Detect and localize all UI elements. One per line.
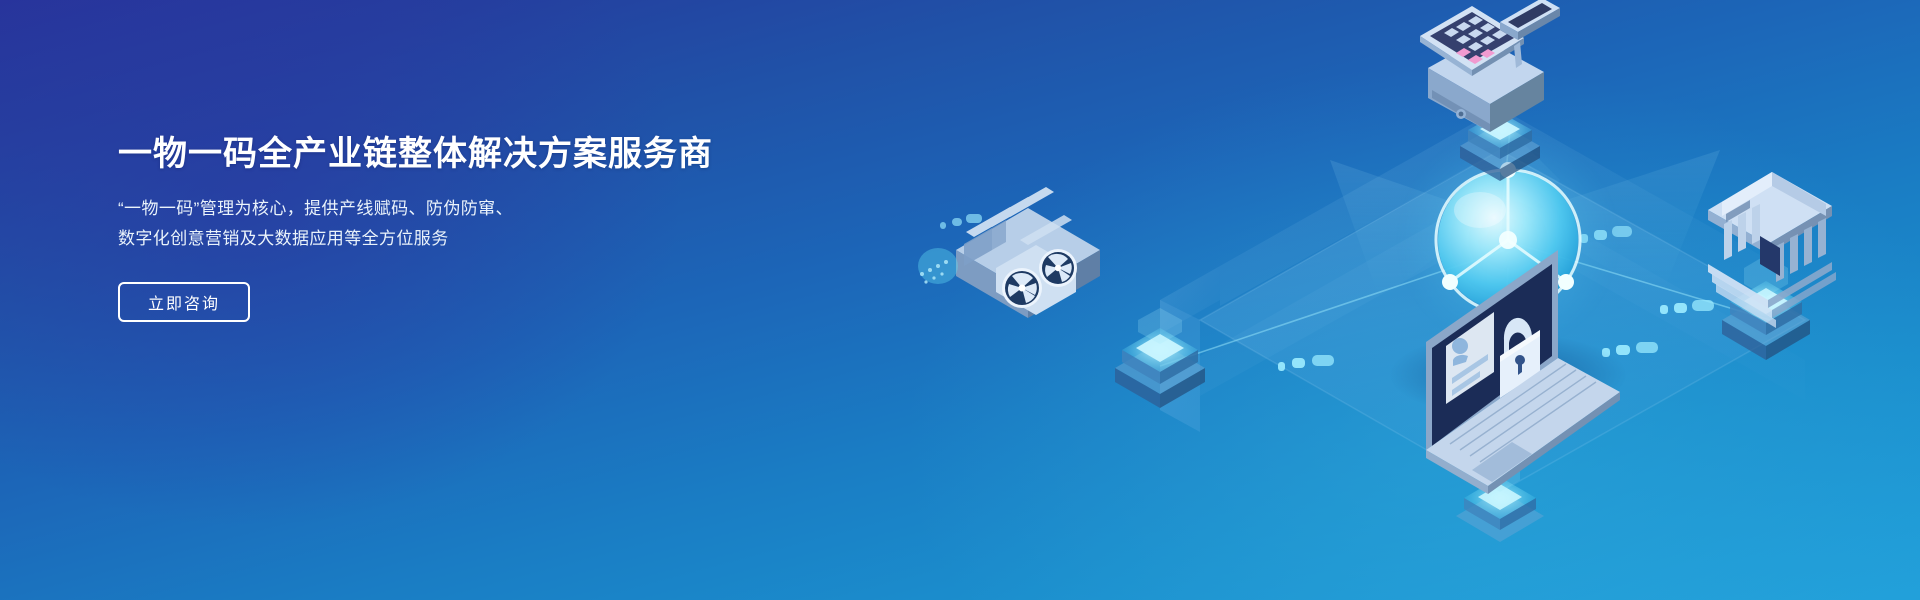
server-rack-icon bbox=[918, 187, 1100, 318]
hero-banner: 一物一码全产业链整体解决方案服务商 “一物一码”管理为核心，提供产线赋码、防伪防… bbox=[0, 0, 1920, 600]
hero-subtitle: “一物一码”管理为核心，提供产线赋码、防伪防窜、 数字化创意营销及大数据应用等全… bbox=[118, 176, 818, 254]
hero-headline: 一物一码全产业链整体解决方案服务商 bbox=[118, 132, 818, 176]
consult-now-button[interactable]: 立即咨询 bbox=[118, 282, 250, 322]
isometric-network-illustration bbox=[860, 0, 1920, 600]
cash-register-icon bbox=[1420, 0, 1560, 132]
scanner-glow bbox=[918, 248, 958, 284]
hero-subtitle-line-1: “一物一码”管理为核心，提供产线赋码、防伪防窜、 bbox=[118, 194, 818, 224]
hero-copy: 一物一码全产业链整体解决方案服务商 “一物一码”管理为核心，提供产线赋码、防伪防… bbox=[118, 132, 818, 322]
hero-subtitle-line-2: 数字化创意营销及大数据应用等全方位服务 bbox=[118, 224, 818, 254]
